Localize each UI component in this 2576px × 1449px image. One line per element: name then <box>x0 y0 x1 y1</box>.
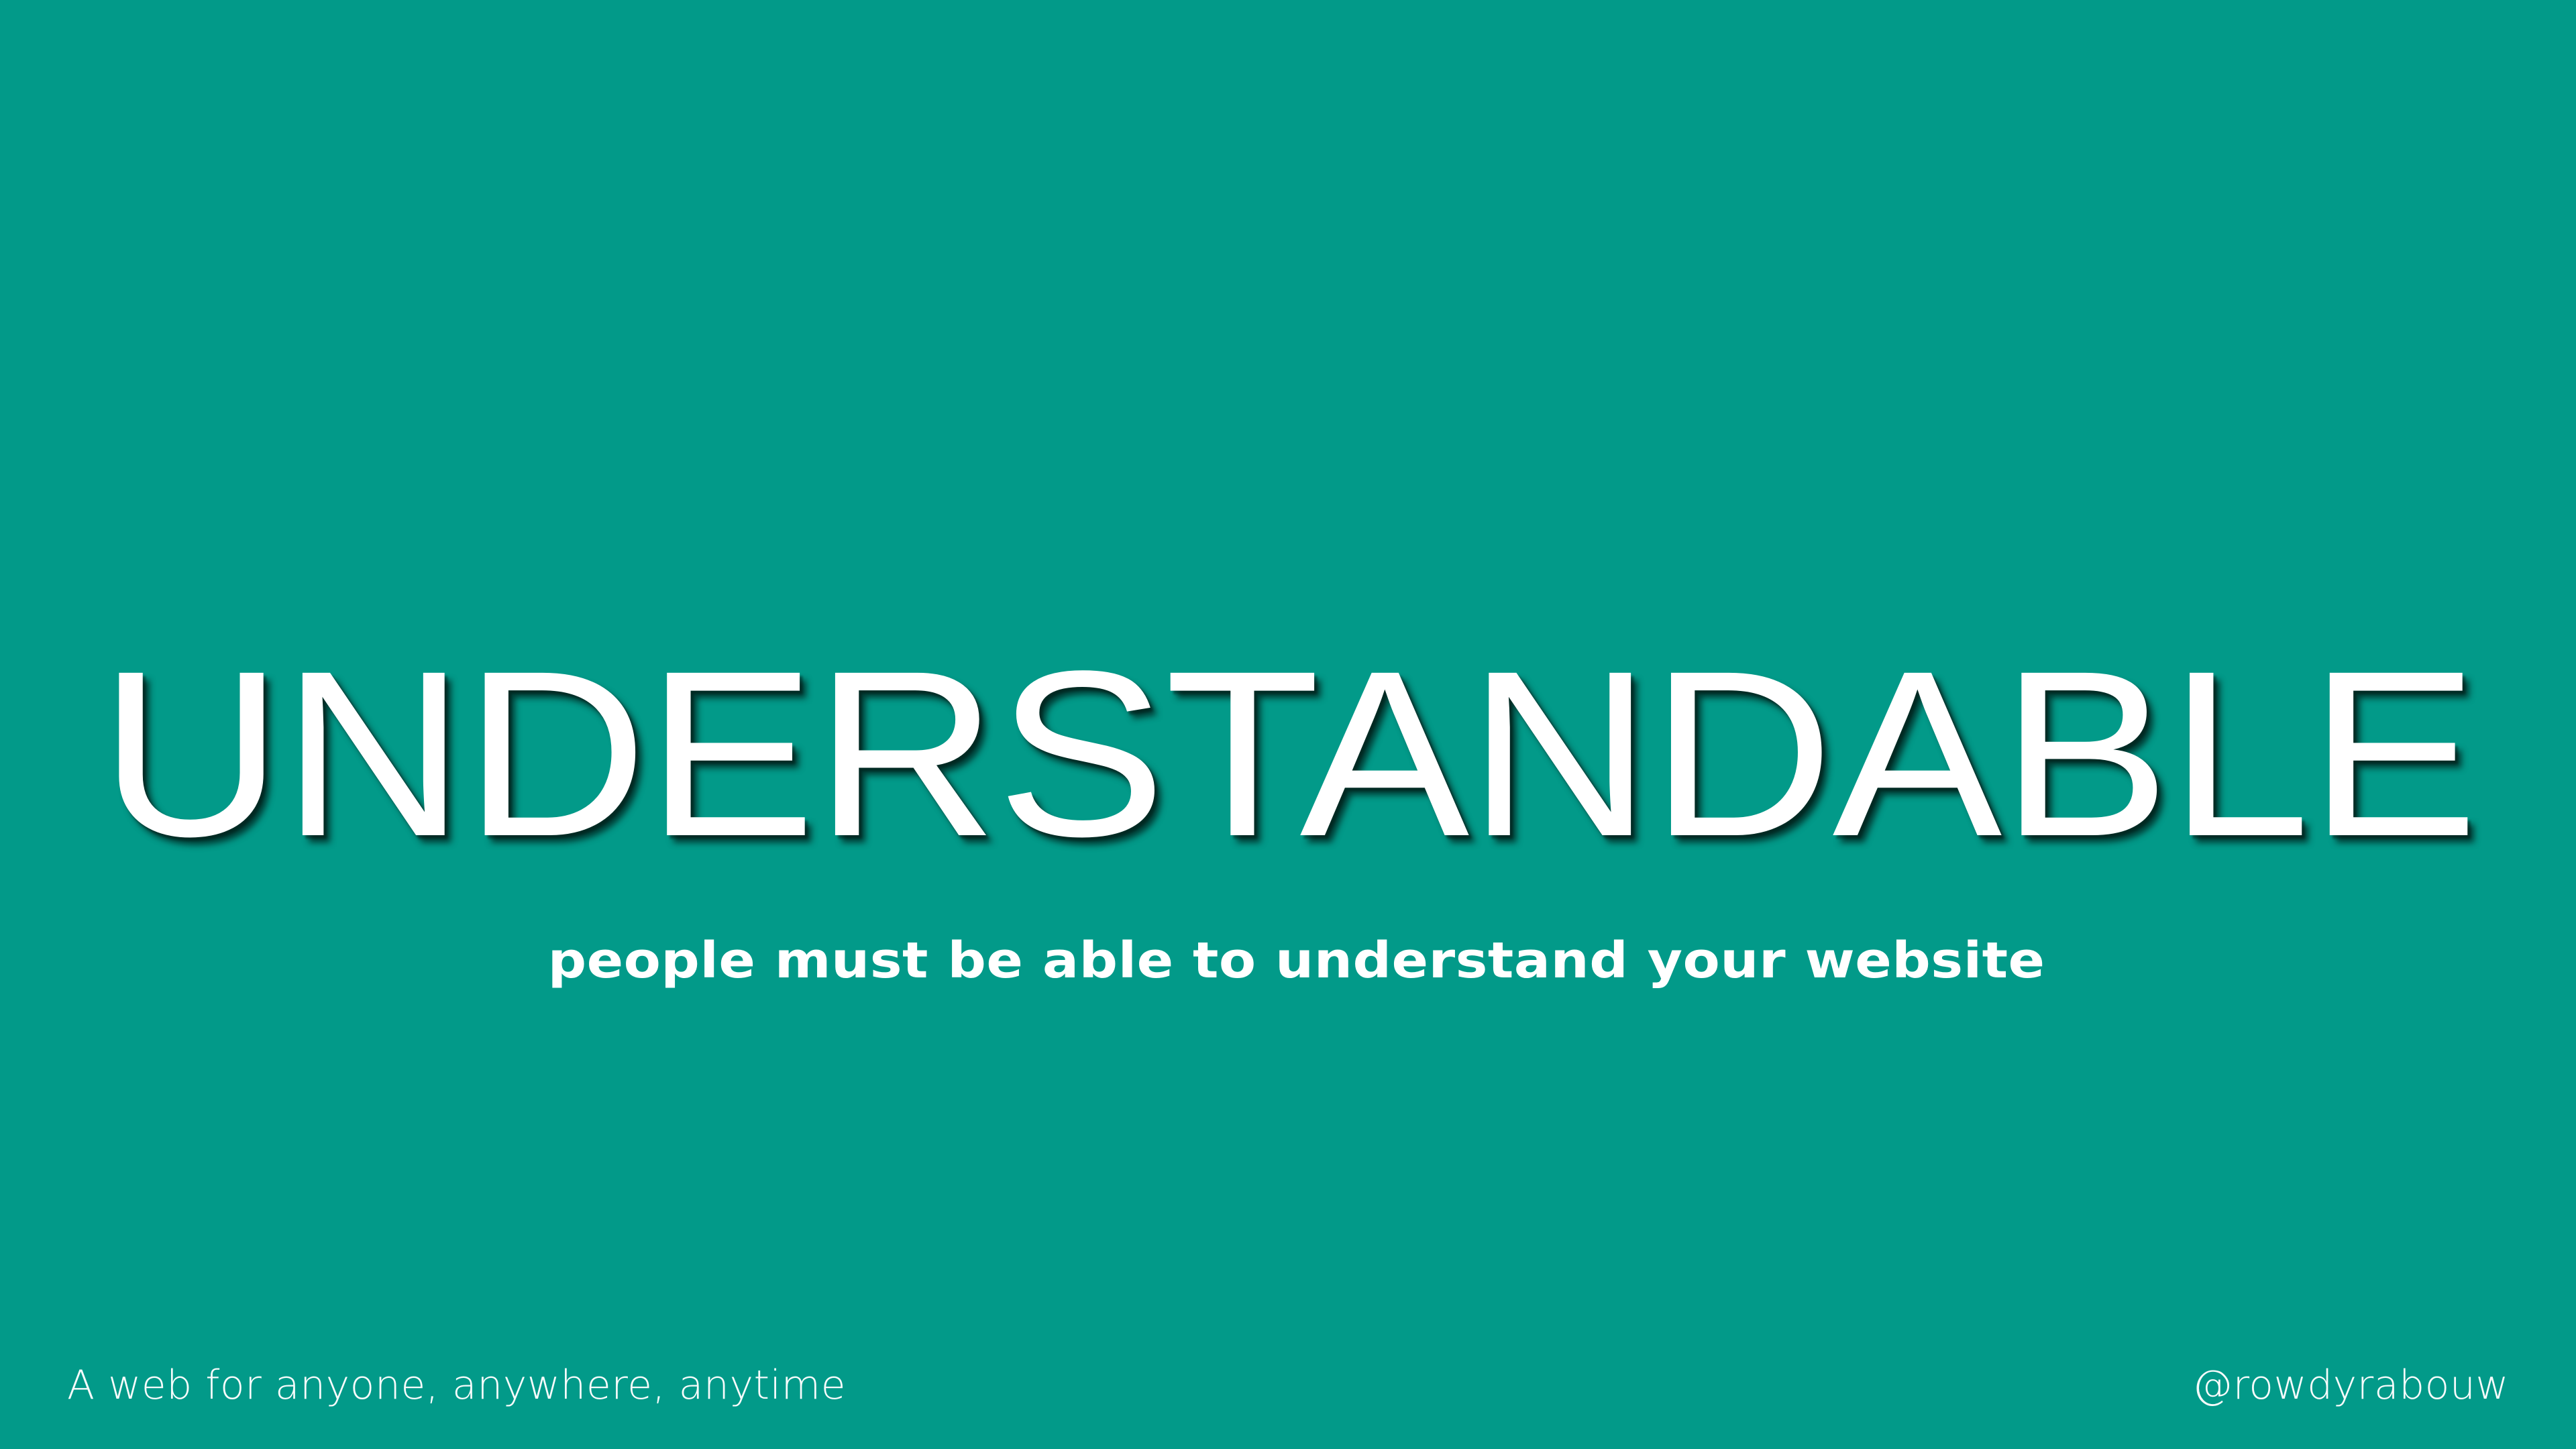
slide-subtitle: people must be able to understand your w… <box>548 934 2045 988</box>
presentation-slide: UNDERSTANDABLE people must be able to un… <box>0 0 2576 1449</box>
subtitle-container: people must be able to understand your w… <box>0 934 2576 988</box>
headline-container: UNDERSTANDABLE <box>0 0 2576 839</box>
slide-headline: UNDERSTANDABLE <box>99 669 2477 839</box>
footer-handle: @rowdyrabouw <box>2192 1363 2509 1407</box>
footer-tagline: A web for anyone, anywhere, anytime <box>67 1363 846 1407</box>
slide-footer: A web for anyone, anywhere, anytime @row… <box>0 1322 2576 1449</box>
